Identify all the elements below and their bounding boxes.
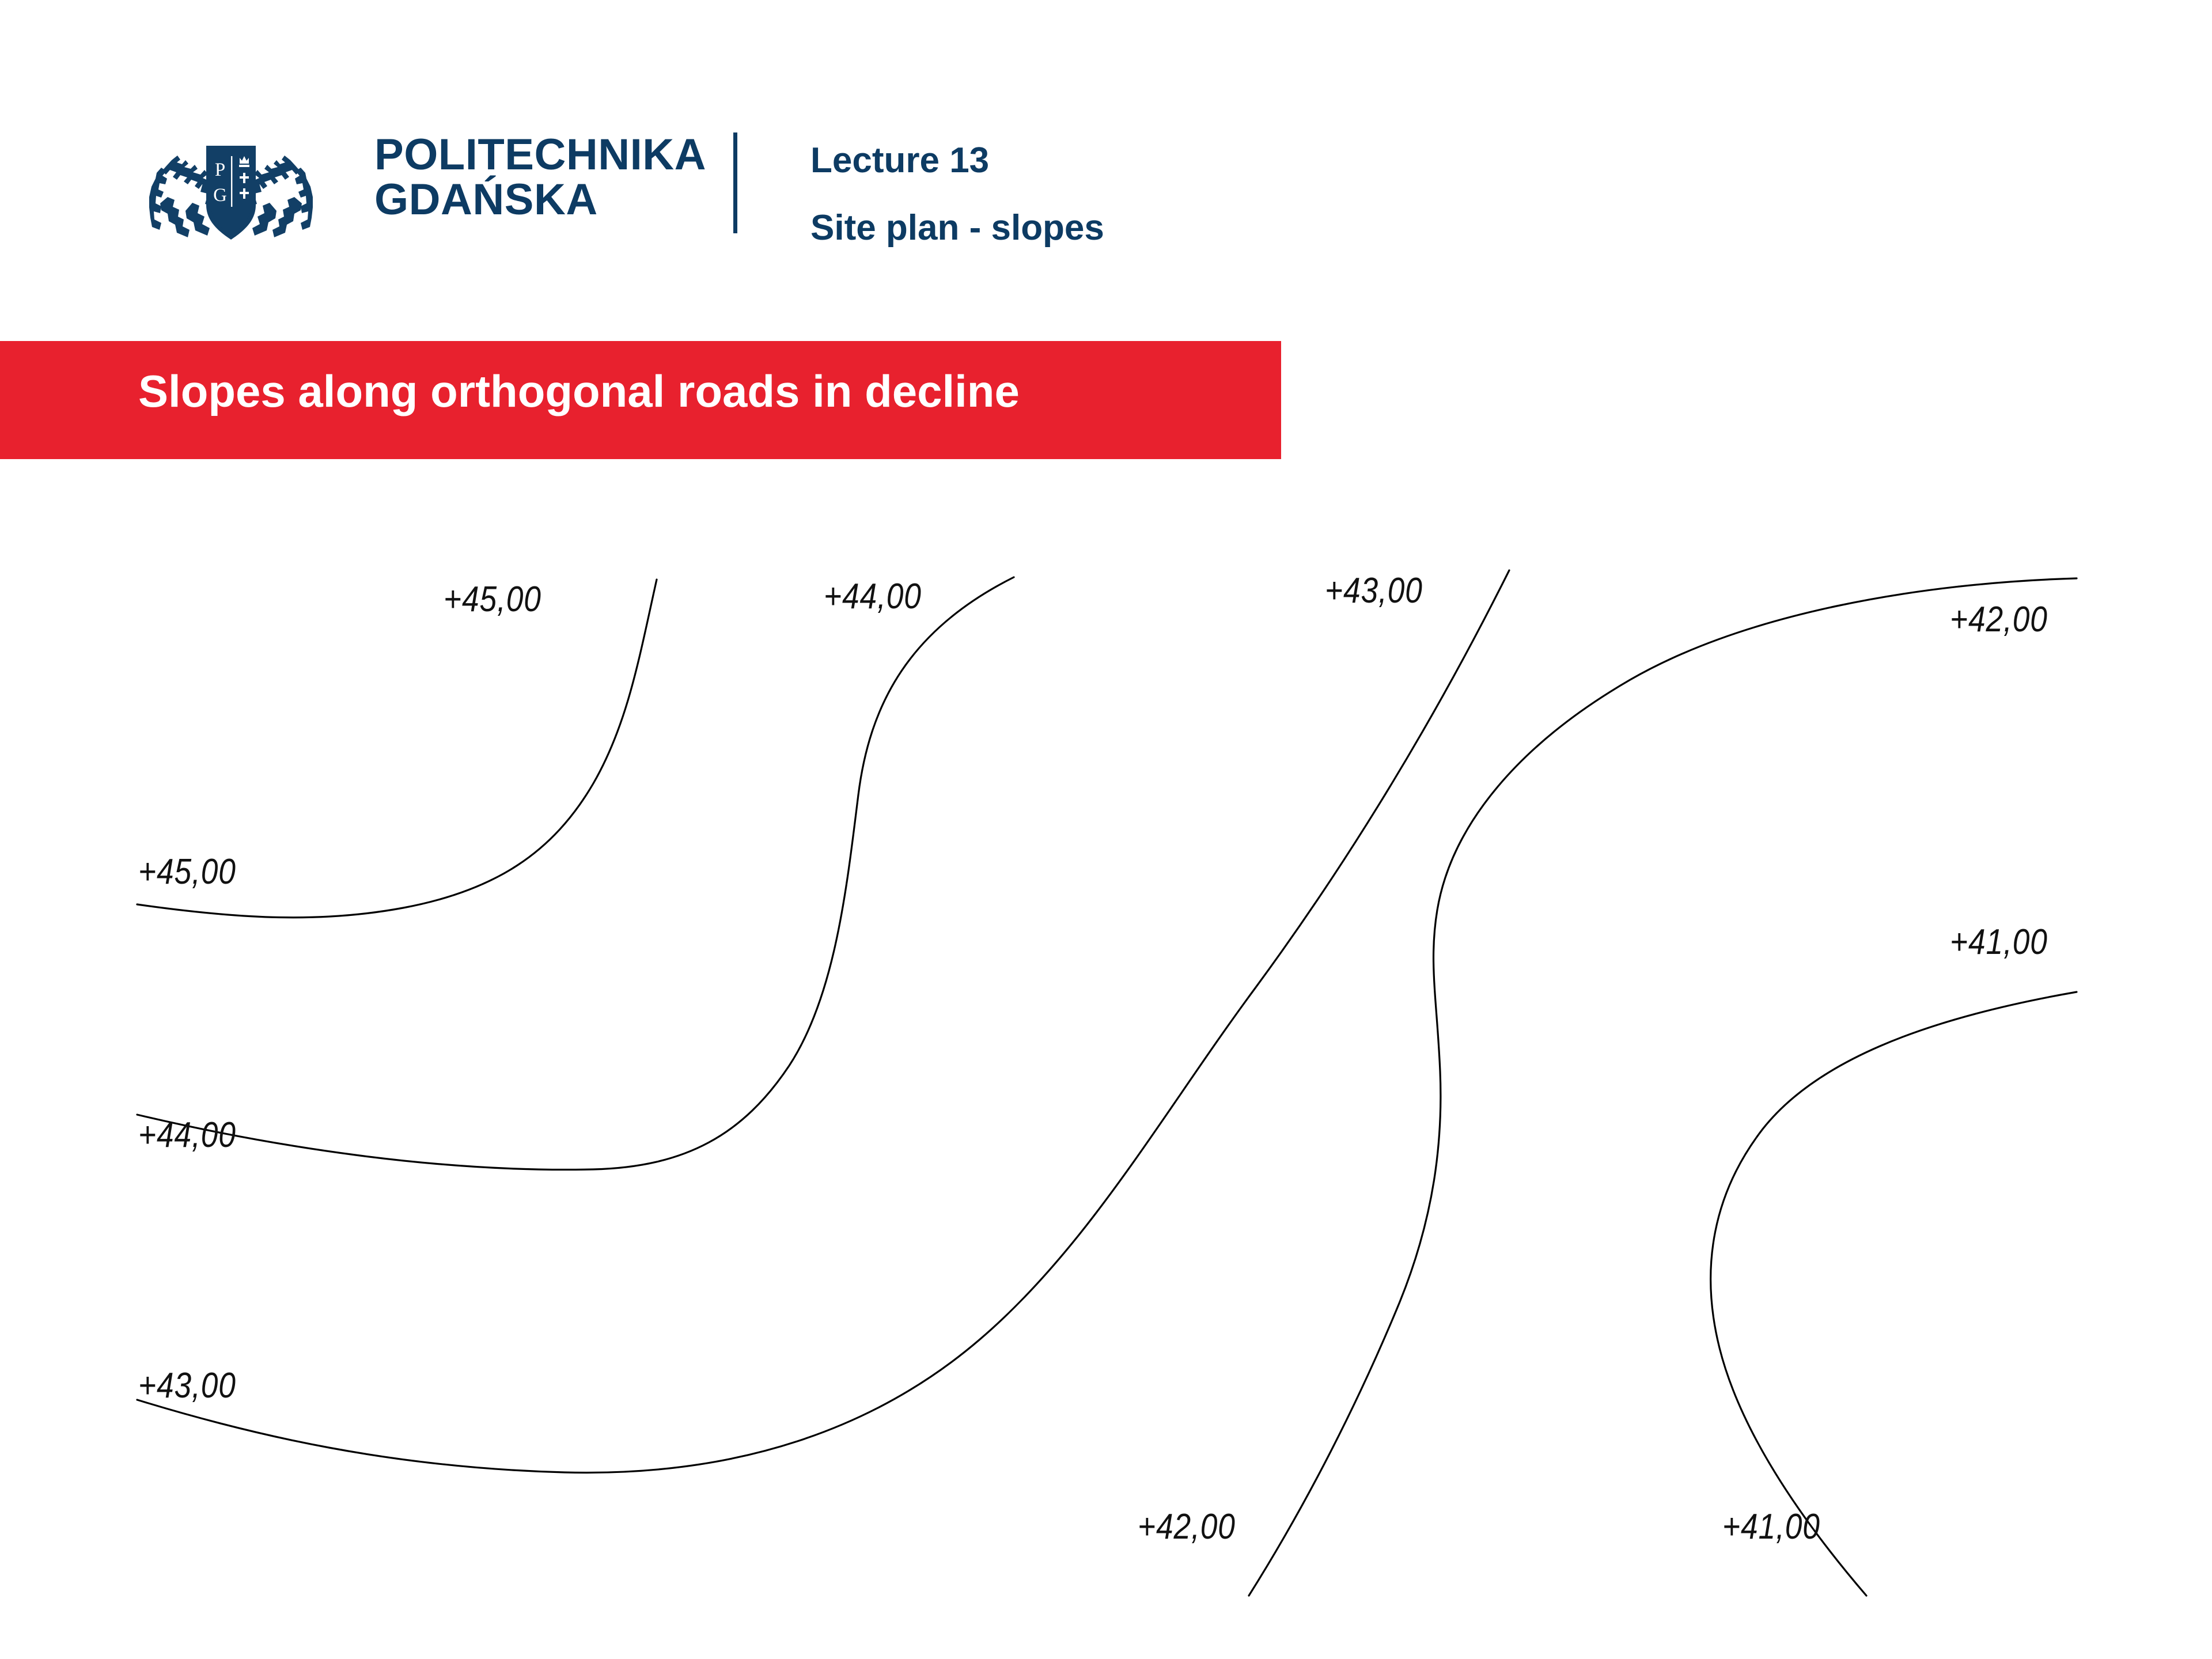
pg-crest-logo: P G — [136, 122, 326, 240]
logo-wordmark-line1: POLITECHNIKA — [374, 130, 706, 179]
header-divider — [733, 132, 737, 233]
banner-title: Slopes along orthogonal roads in decline — [138, 369, 1020, 414]
lbl-43-top: +43,00 — [1325, 570, 1423, 611]
lbl-44-top: +44,00 — [824, 576, 922, 617]
lbl-44-left: +44,00 — [138, 1115, 236, 1156]
contour-42 — [1249, 578, 2077, 1596]
page-header: P G POLITECHNIKA GDAŃSKA Lecture 13 Site… — [0, 0, 2212, 300]
contour-41 — [1711, 992, 2077, 1596]
logo-wordmark: POLITECHNIKA GDAŃSKA — [374, 132, 709, 222]
lbl-42-right: +42,00 — [1950, 599, 2048, 640]
logo-wordmark-line2: GDAŃSKA — [374, 177, 709, 222]
contour-lines-canvas — [0, 484, 2212, 1659]
contour-44 — [137, 577, 1014, 1170]
pg-crest-icon: P G — [136, 122, 326, 240]
lbl-45-top: +45,00 — [444, 579, 541, 620]
lbl-41-bottom: +41,00 — [1722, 1506, 1820, 1547]
lbl-42-bottom: +42,00 — [1138, 1506, 1236, 1547]
lbl-43-left: +43,00 — [138, 1365, 236, 1406]
lbl-45-left: +45,00 — [138, 851, 236, 892]
lecture-subject: Site plan - slopes — [810, 210, 1104, 246]
lecture-number: Lecture 13 — [810, 143, 989, 179]
lbl-41-right: +41,00 — [1950, 922, 2048, 963]
svg-text:P: P — [215, 160, 225, 180]
svg-text:G: G — [213, 185, 227, 206]
contour-group — [137, 570, 2077, 1596]
section-banner: Slopes along orthogonal roads in decline — [0, 341, 1281, 459]
site-plan-drawing: +45,00+44,00+43,00+42,00+45,00+41,00+44,… — [0, 484, 2212, 1659]
contour-43 — [137, 570, 1509, 1473]
